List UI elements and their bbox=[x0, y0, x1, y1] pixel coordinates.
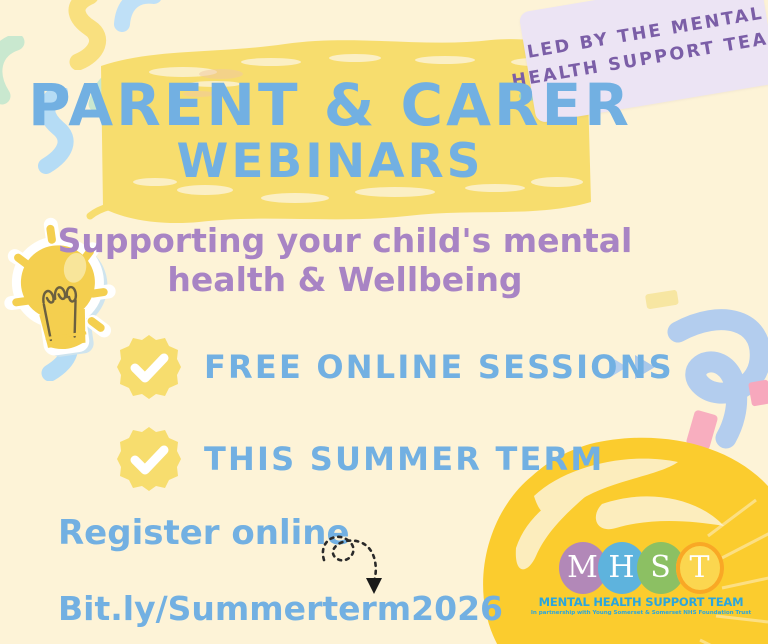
list-item: FREE ONLINE SESSIONS bbox=[116, 334, 674, 400]
mhst-logo-circles: M H S T bbox=[559, 542, 724, 594]
mhst-logo-name: MENTAL HEALTH SUPPORT TEAM bbox=[539, 595, 744, 609]
dotted-curved-arrow-icon bbox=[312, 524, 402, 600]
poster-canvas: LED BY THE MENTAL HEALTH SUPPORT TEAM PA… bbox=[0, 0, 768, 644]
pink-confetti-icon bbox=[748, 378, 768, 408]
register-url[interactable]: Bit.ly/Summerterm2026 bbox=[58, 592, 503, 627]
check-badge-icon bbox=[116, 334, 182, 400]
list-item-label: FREE ONLINE SESSIONS bbox=[204, 348, 674, 386]
register-prompt: Register online bbox=[58, 516, 503, 552]
blue-swirl-icon bbox=[660, 298, 768, 458]
page-title-line-2: WEBINARS bbox=[0, 133, 660, 192]
blue-squiggle-icon bbox=[110, 0, 164, 36]
mhst-logo: M H S T MENTAL HEALTH SUPPORT TEAM In pa… bbox=[548, 542, 734, 616]
page-subtitle-line-2: health & Wellbeing bbox=[0, 261, 690, 300]
register-block: Register online Bit.ly/Summerterm2026 bbox=[58, 516, 503, 626]
list-item-label: THIS SUMMER TERM bbox=[204, 440, 604, 478]
page-subtitle-line-1: Supporting your child's mental bbox=[0, 222, 690, 261]
check-badge-icon bbox=[116, 426, 182, 492]
page-subtitle: Supporting your child's mental health & … bbox=[0, 222, 690, 300]
list-item: THIS SUMMER TERM bbox=[116, 426, 604, 492]
mhst-logo-partnership: In partnership with Young Somerset & Som… bbox=[531, 610, 751, 616]
mhst-circle-t: T bbox=[676, 542, 724, 594]
page-title: PARENT & CARER WEBINARS bbox=[0, 78, 660, 192]
page-title-line-1: PARENT & CARER bbox=[0, 78, 660, 133]
